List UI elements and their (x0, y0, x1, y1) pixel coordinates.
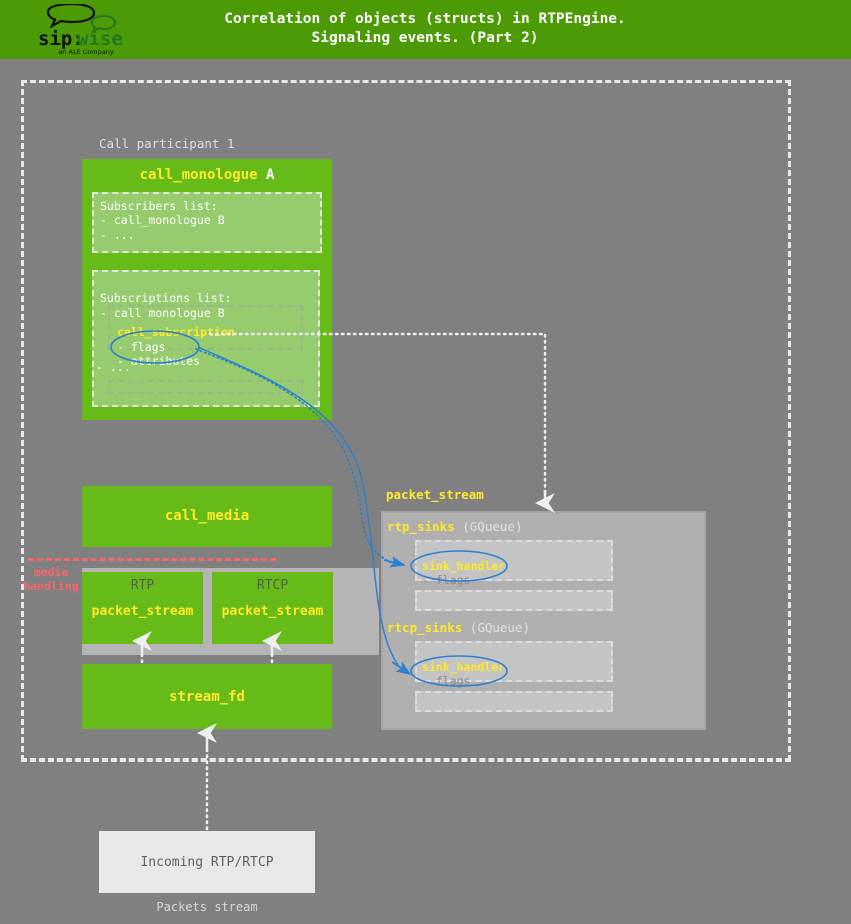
subscriptions-empty-slot (108, 380, 303, 394)
stream-fd-block[interactable]: stream_fd (82, 664, 332, 729)
call-subscription-box: call_subscription- flags - attributes (108, 305, 303, 350)
rtp-struct-label: packet_stream (82, 604, 203, 619)
call-participant-label: Call participant 1 (99, 136, 234, 151)
call-monologue-block[interactable]: call_monologue A Subscribers list: - cal… (82, 159, 332, 420)
svg-text:wise: wise (77, 28, 123, 50)
incoming-label: Incoming RTP/RTCP (140, 855, 273, 870)
call-monologue-struct-name: call_monologue (140, 167, 258, 183)
rtcp-sinks-type: (GQueue) (462, 620, 530, 635)
rtcp-packet-stream-block[interactable]: RTCP packet_stream (212, 572, 333, 644)
page-header: sip: wise an ALE Company Correlation of … (0, 0, 851, 59)
rtcp-sinks-name: rtcp_sinks (387, 620, 462, 635)
media-handling-label: media handling (22, 565, 80, 593)
sipwise-logo-icon: sip: wise an ALE Company (30, 4, 134, 56)
page-title: Correlation of objects (structs) in RTPE… (140, 10, 710, 48)
subscriptions-more: - ... (96, 360, 131, 374)
subscribers-list-box: Subscribers list: - call_monologue B - .… (92, 192, 322, 253)
call-monologue-title: call_monologue A (82, 167, 332, 183)
media-handling-separator (28, 558, 276, 561)
rtcp-sinks-empty-slot (415, 691, 613, 712)
sipwise-logo: sip: wise an ALE Company (30, 4, 130, 56)
packet-stream-caption: packet_stream (386, 487, 484, 502)
rtcp-proto-label: RTCP (212, 578, 333, 593)
call-media-block[interactable]: call_media (82, 486, 332, 547)
call-monologue-suffix: A (258, 167, 275, 183)
rtp-sinks-label: rtp_sinks (GQueue) (387, 519, 522, 534)
rtcp-sinks-label: rtcp_sinks (GQueue) (387, 620, 530, 635)
rtcp-struct-label: packet_stream (212, 604, 333, 619)
rtp-sinks-empty-slot (415, 590, 613, 611)
packets-stream-separator (21, 759, 791, 762)
call-subscription-title: call_subscription (117, 325, 295, 339)
rtcp-sink-handler-title: sink_handler (422, 660, 606, 675)
rtcp-sink-handler-box: sink_handler- flags - attributes (415, 641, 613, 682)
stream-fd-label: stream_fd (82, 689, 332, 705)
rtp-sinks-type: (GQueue) (455, 519, 523, 534)
rtp-sinks-name: rtp_sinks (387, 519, 455, 534)
packet-stream-panel[interactable]: rtp_sinks (GQueue) sink_handler- flags -… (381, 511, 706, 730)
rtp-sink-handler-title: sink_handler (422, 559, 606, 574)
rtp-sink-handler-box: sink_handler- flags - attributes (415, 540, 613, 581)
packets-stream-caption: Packets stream (99, 900, 315, 914)
media-handling-divider (82, 646, 379, 655)
rtp-packet-stream-block[interactable]: RTP packet_stream (82, 572, 203, 644)
subscriptions-list-box: Subscriptions list: - call monologue B c… (92, 270, 320, 407)
incoming-rtp-rtcp-block: Incoming RTP/RTCP (99, 831, 315, 893)
svg-text:an ALE Company: an ALE Company (58, 48, 113, 56)
call-media-label: call_media (82, 508, 332, 524)
diagram-root: sip: wise an ALE Company Correlation of … (0, 0, 851, 924)
rtp-proto-label: RTP (82, 578, 203, 593)
